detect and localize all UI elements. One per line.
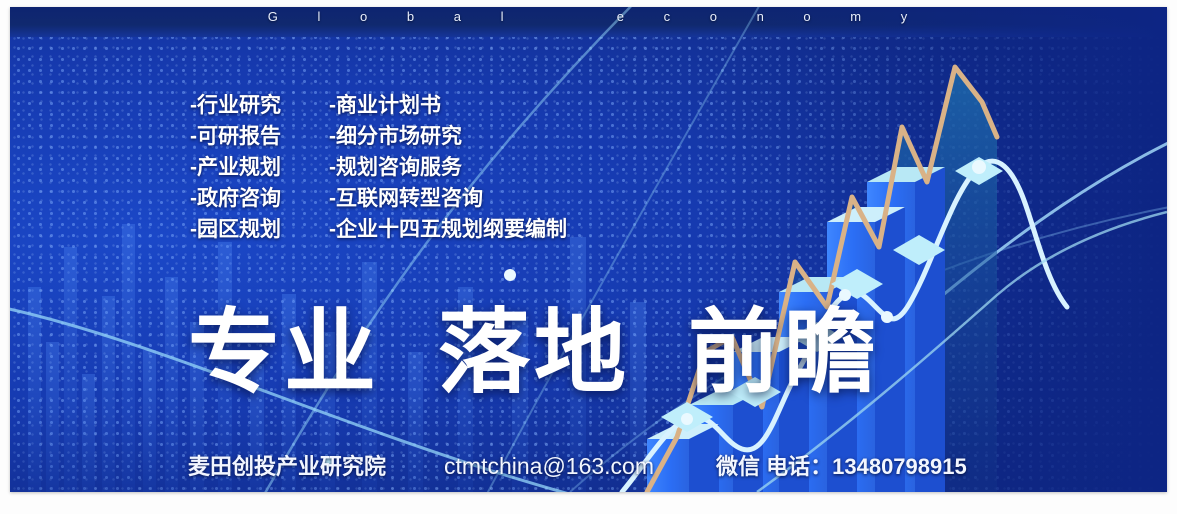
kicker-letter: G [252,9,296,24]
service-item: -互联网转型咨询 [329,185,567,213]
service-item: -商业计划书 [329,92,567,120]
kicker-letter: c [648,9,689,24]
kicker-global-economy: G l o b a l e c o n o m y [10,9,1167,24]
kicker-letter: o [344,9,385,24]
kicker-letter: o [787,9,828,24]
kicker-letter: n [741,9,782,24]
kicker-letter: l [301,9,338,24]
headline-slogan: 专业 落地 前瞻 [188,307,880,399]
services-column-right: -商业计划书 -细分市场研究 -规划咨询服务 -互联网转型咨询 -企业十四五规划… [329,92,567,244]
kicker-letter: l [485,9,522,24]
headline-word: 落地 [438,307,630,399]
kicker-letter: a [438,9,479,24]
services-column-left: -行业研究 -可研报告 -产业规划 -政府咨询 -园区规划 [190,92,281,244]
email-address[interactable]: ctmtchina@163.com [444,453,654,480]
kicker-letter: b [391,9,432,24]
wechat-phone-label: 微信 电话：13480798915 [716,449,967,481]
headline-word: 前瞻 [688,307,880,399]
service-item: -细分市场研究 [329,123,567,151]
service-item: -产业规划 [190,154,281,182]
service-item: -规划咨询服务 [329,154,567,182]
service-item: -园区规划 [190,216,281,244]
decorative-node-dots [10,7,1167,492]
organization-name: 麦田创投产业研究院 [188,449,386,481]
screenshot-canvas: G l o b a l e c o n o m y -行业研究 -可研报告 -产… [0,0,1177,514]
kicker-letter: o [694,9,735,24]
kicker-letter: m [834,9,879,24]
kicker-letter: e [601,9,642,24]
contact-row: 麦田创投产业研究院 ctmtchina@163.com 微信 电话：134807… [188,449,967,481]
services-lists: -行业研究 -可研报告 -产业规划 -政府咨询 -园区规划 -商业计划书 -细分… [190,92,567,244]
service-item: -可研报告 [190,123,281,151]
promo-banner: G l o b a l e c o n o m y -行业研究 -可研报告 -产… [10,7,1167,492]
service-item: -政府咨询 [190,185,281,213]
service-item: -企业十四五规划纲要编制 [329,216,567,244]
kicker-letter: y [885,9,926,24]
headline-word: 专业 [188,307,380,399]
service-item: -行业研究 [190,92,281,120]
